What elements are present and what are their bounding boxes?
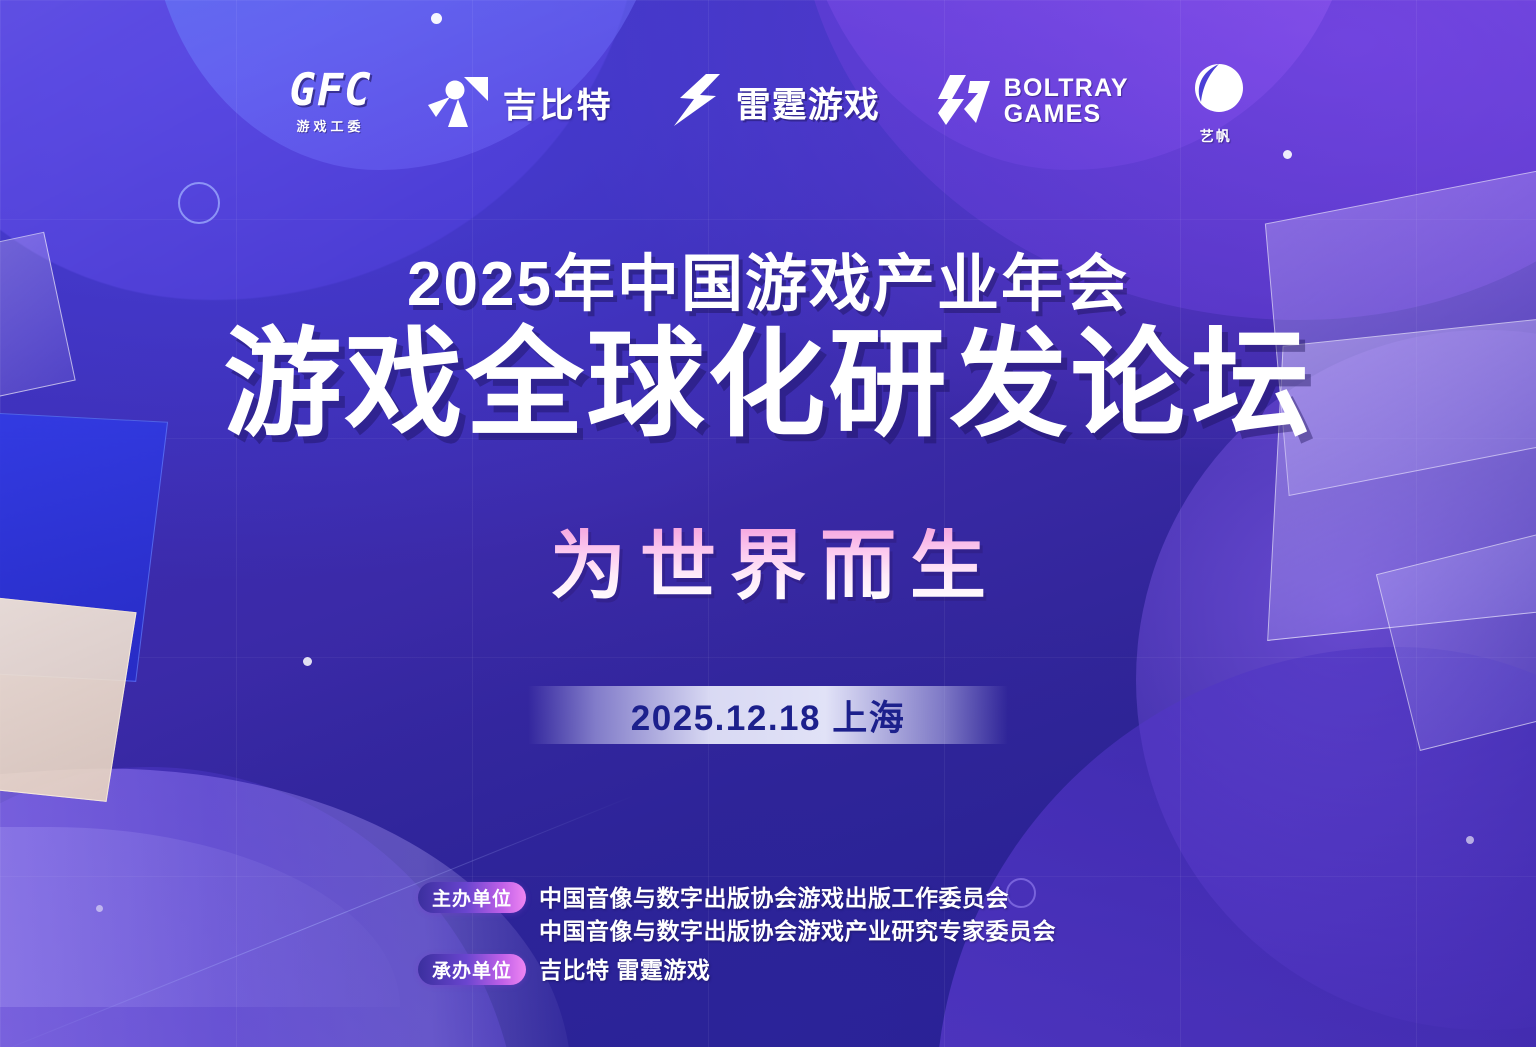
organizer-row: 主办单位 中国音像与数字出版协会游戏出版工作委员会 中国音像与数字出版协会游戏产…	[418, 882, 1056, 947]
gfc-logo-label: 游戏工委	[296, 116, 364, 135]
gfc-logo-icon: GFC	[289, 69, 371, 113]
lightning-bolt-icon	[670, 72, 724, 133]
host-line-1: 吉比特 雷霆游戏	[539, 955, 710, 986]
sponsor-logo-strip: GFC 游戏工委 吉比特 雷霆游戏	[0, 56, 1536, 148]
organizer-line-2: 中国音像与数字出版协会游戏产业研究专家委员会	[539, 916, 1056, 947]
event-slogan: 为世界而生	[0, 528, 1536, 604]
sponsor-logo-boltray: BOLTRAY GAMES	[936, 73, 1129, 132]
organizer-line-1: 中国音像与数字出版协会游戏出版工作委员会	[539, 883, 1056, 914]
host-badge: 承办单位	[418, 954, 526, 985]
boltray-logo-name: BOLTRAY	[1004, 76, 1129, 102]
boltray-logo-icon	[936, 73, 992, 132]
yifan-moon-icon	[1185, 58, 1247, 125]
decorative-dot-2	[1283, 150, 1292, 159]
decorative-dot-3	[303, 657, 312, 666]
sponsor-logo-yifan: 艺帆	[1185, 58, 1247, 146]
date-location-banner: 2025.12.18 上海	[528, 686, 1008, 744]
decorative-dot-1	[431, 13, 442, 24]
sponsor-logo-leiting: 雷霆游戏	[670, 72, 880, 133]
host-row: 承办单位 吉比特 雷霆游戏	[418, 954, 1056, 986]
decorative-dot-4	[1466, 836, 1474, 844]
sponsor-logo-gbits: 吉比特	[428, 71, 614, 134]
decorative-dot-5	[96, 905, 103, 912]
sponsor-logo-gfc: GFC 游戏工委	[289, 69, 371, 135]
background-ribbon-mid-left	[0, 827, 400, 1007]
yifan-logo-label: 艺帆	[1200, 126, 1232, 146]
page-title: 游戏全球化研发论坛	[0, 322, 1536, 449]
organizer-badge: 主办单位	[418, 882, 526, 913]
boltray-logo-label: GAMES	[1004, 102, 1129, 128]
decorative-ring-upper-left	[178, 182, 220, 224]
leiting-logo-label: 雷霆游戏	[736, 77, 880, 128]
event-poster: GFC 游戏工委 吉比特 雷霆游戏	[0, 0, 1536, 1047]
gbits-logo-label: 吉比特	[503, 78, 614, 127]
credits-block: 主办单位 中国音像与数字出版协会游戏出版工作委员会 中国音像与数字出版协会游戏产…	[418, 882, 1056, 990]
event-subtitle: 2025年中国游戏产业年会	[0, 252, 1536, 318]
glass-panel-left-cream	[0, 590, 137, 802]
gbits-logo-icon	[428, 71, 490, 134]
date-location-text: 2025.12.18 上海	[631, 690, 905, 741]
headline-block: 2025年中国游戏产业年会 游戏全球化研发论坛	[0, 252, 1536, 449]
